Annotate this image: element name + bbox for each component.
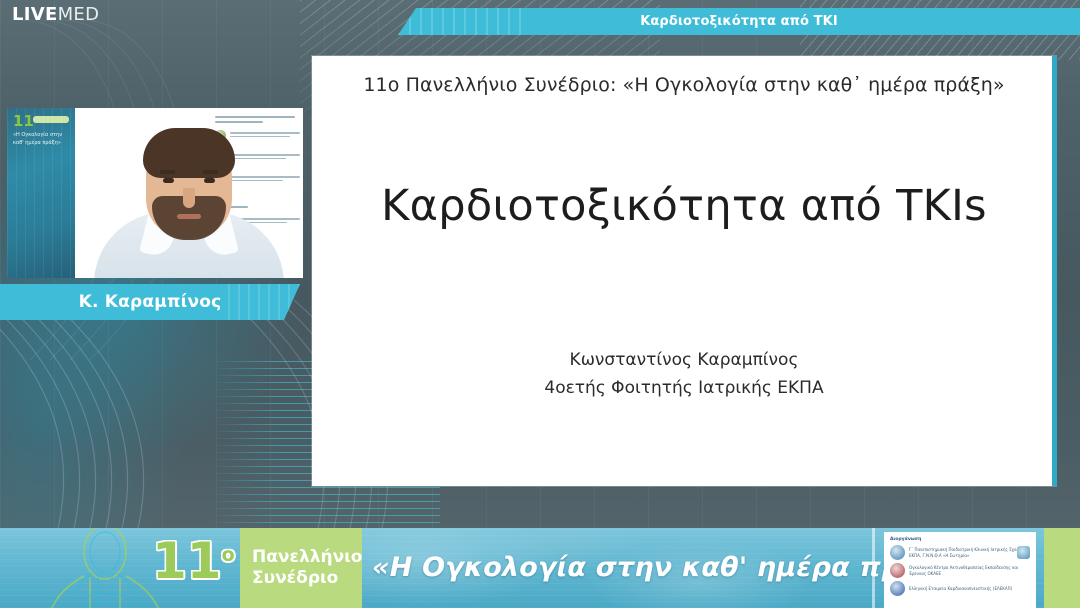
speaker-eyebrow-right [203,170,218,174]
organizer-name: Ελληνική Εταιρεία Καρδιοαναπνευστικής (Ε… [909,586,1012,592]
presentation-slide[interactable]: 11ο Πανελλήνιο Συνέδριο: «Η Ογκολογία στ… [312,56,1056,486]
organizer-name: Ογκολογικό Κέντρο Ακτινοθεραπείας Εκπαίδ… [909,565,1030,577]
slide-main-title: Καρδιοτοξικότητα από TKIs [312,181,1056,231]
speaker-eye-right [204,178,215,183]
livemed-logo[interactable]: LIVEMED [12,6,99,24]
organizer-item: Ελληνική Εταιρεία Καρδιοαναπνευστικής (Ε… [890,581,1030,596]
session-title-text: Καρδιοτοξικότητα από TKI [640,14,838,29]
organizer-item: Γ΄ Πανεπιστημιακή Παιδιατρική Κλινική Ια… [890,545,1030,560]
organizer-item: Ογκολογικό Κέντρο Ακτινοθεραπείας Εκπαίδ… [890,563,1030,578]
virtual-bg-accent-bar [33,116,69,123]
banner-congress-line1: Πανελλήνιο [252,547,362,568]
organizers-heading: Διοργάνωση [890,537,1030,542]
speaker-mouth [177,214,201,219]
speaker-figure [75,108,303,278]
organizer-name: Γ΄ Πανεπιστημιακή Παιδιατρική Κλινική Ια… [909,547,1030,559]
livemed-webcast-player: LIVEMED Καρδιοτοξικότητα από TKI [0,0,1080,608]
video-virtual-background-sidebar: 11 «Η Ογκολογία στην καθ' ημέρα πράξη» [7,108,75,278]
speaker-eyebrow-left [160,170,175,174]
organizer-logo-icon [890,563,905,578]
speaker-video-panel[interactable]: 11 «Η Ογκολογία στην καθ' ημέρα πράξη» [7,108,303,278]
session-title-bar-stripes [398,8,528,35]
organizers-card: Διοργάνωση Γ΄ Πανεπιστημιακή Παιδιατρική… [884,532,1036,608]
logo-med-text: MED [58,4,100,25]
speaker-eye-left [163,178,174,183]
banner-right-green-accent [1044,528,1080,608]
banner-congress-label-box: Πανελλήνιο Συνέδριο [240,528,362,608]
speaker-hair [143,128,235,178]
speaker-name-text: Κ. Καραμπίνος [79,292,222,312]
banner-panel-divider [872,528,875,608]
organizer-badge-icon [1017,546,1030,559]
banner-edition-ordinal: ο [222,543,235,565]
slide-congress-header: 11ο Πανελλήνιο Συνέδριο: «Η Ογκολογία στ… [312,74,1056,96]
speaker-nose [183,188,195,208]
logo-live-text: LIVE [12,4,58,25]
banner-edition-number-text: 11 [152,532,222,590]
virtual-bg-subtitle: «Η Ογκολογία στην καθ' ημέρα πράξη» [13,132,69,147]
slide-right-accent-edge [1052,56,1057,486]
slide-author-name: Κωνσταντίνος Καραμπίνος [312,346,1056,374]
virtual-bg-edition-number: 11 [13,114,34,129]
slide-author-block: Κωνσταντίνος Καραμπίνος 4οετής Φοιτητής … [312,346,1056,402]
banner-congress-line2: Συνέδριο [252,568,362,589]
slide-author-affiliation: 4οετής Φοιτητής Ιατρικής ΕΚΠΑ [312,374,1056,402]
organizer-logo-icon [890,581,905,596]
banner-edition-number: 11ο [152,536,235,586]
banner-congress-theme: «Η Ογκολογία στην καθ' ημέρα πράξη» [372,552,973,583]
organizer-logo-icon [890,545,905,560]
